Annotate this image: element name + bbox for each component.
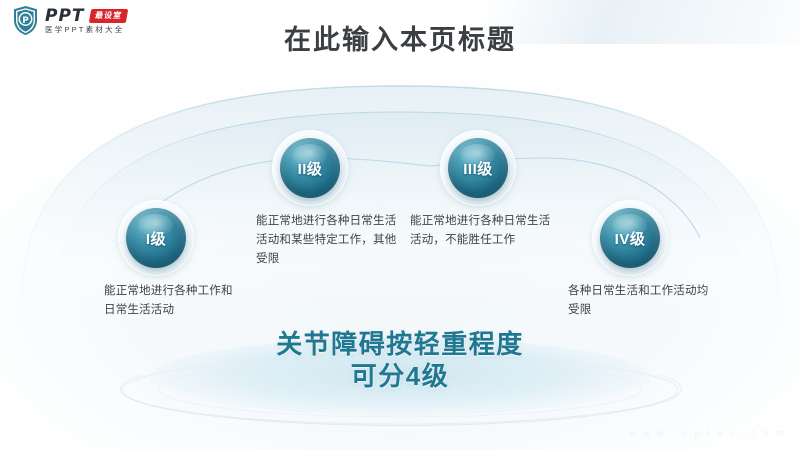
site-watermark: w w w . p p t e r . c o m bbox=[629, 428, 786, 438]
slide-canvas: P PPT 最设室 医学PPT素材大全 在此输入本页标题 bbox=[0, 0, 800, 450]
node-level-1[interactable]: I级 bbox=[118, 200, 194, 276]
node-ball[interactable]: I级 bbox=[126, 208, 186, 268]
headline-line-1: 关节障碍按轻重程度 bbox=[276, 329, 524, 359]
page-title: 在此输入本页标题 bbox=[0, 18, 800, 57]
node-level-3[interactable]: III级 bbox=[440, 130, 516, 206]
node-ball[interactable]: II级 bbox=[280, 138, 340, 198]
node-description-2: 能正常地进行各种日常生活活动和某些特定工作，其他受限 bbox=[256, 212, 404, 269]
node-description-1: 能正常地进行各种工作和日常生活活动 bbox=[104, 282, 244, 320]
node-label: II级 bbox=[298, 158, 323, 179]
node-label: IV级 bbox=[615, 228, 646, 249]
node-label: I级 bbox=[146, 228, 166, 249]
node-level-2[interactable]: II级 bbox=[272, 130, 348, 206]
node-ball[interactable]: IV级 bbox=[600, 208, 660, 268]
node-ball[interactable]: III级 bbox=[448, 138, 508, 198]
node-level-4[interactable]: IV级 bbox=[592, 200, 668, 276]
bottom-headline: 关节障碍按轻重程度 可分4级 bbox=[0, 328, 800, 392]
node-description-4: 各种日常生活和工作活动均受限 bbox=[568, 282, 716, 320]
node-label: III级 bbox=[463, 158, 493, 179]
node-description-3: 能正常地进行各种日常生活活动，不能胜任工作 bbox=[410, 212, 558, 250]
headline-line-2: 可分4级 bbox=[0, 360, 800, 392]
